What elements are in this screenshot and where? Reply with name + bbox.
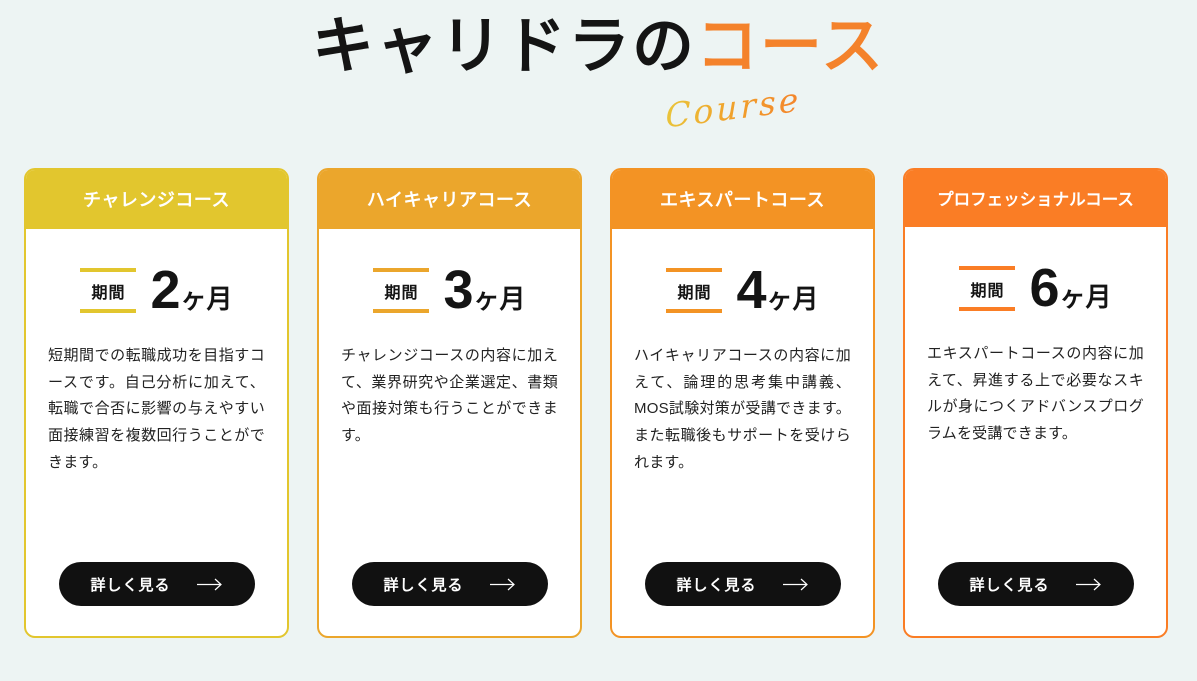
duration-value: 6 ヶ月 [1029, 261, 1111, 315]
course-description: チャレンジコースの内容に加えて、業界研究や企業選定、書類や面接対策も行うことがで… [341, 343, 558, 450]
cta-wrap: 詳しく見る [927, 536, 1144, 636]
period-label: 期間 [80, 272, 136, 309]
details-button[interactable]: 詳しく見る [59, 562, 255, 606]
course-card-body: 期間 2 ヶ月 短期間での転職成功を目指すコースです。自己分析に加えて、転職で合… [26, 229, 287, 636]
duration-number: 6 [1029, 261, 1058, 315]
cta-wrap: 詳しく見る [48, 536, 265, 636]
period-badge: 期間 [80, 268, 136, 313]
arrow-right-icon [783, 578, 809, 591]
arrow-right-icon [197, 578, 223, 591]
course-duration: 期間 3 ヶ月 [341, 263, 558, 317]
course-duration: 期間 4 ヶ月 [634, 263, 851, 317]
period-rule-bottom [666, 309, 722, 313]
course-card-header: エキスパートコース [612, 170, 873, 229]
course-duration: 期間 2 ヶ月 [48, 263, 265, 317]
course-card-list: チャレンジコース 期間 2 ヶ月 短期間での転職成功を目指すコースです。自己分析… [24, 168, 1173, 638]
duration-unit: ヶ月 [474, 286, 526, 312]
details-button[interactable]: 詳しく見る [352, 562, 548, 606]
course-card-header: プロフェッショナルコース [905, 170, 1166, 227]
details-button-label: 詳しく見る [383, 574, 463, 595]
course-card[interactable]: エキスパートコース 期間 4 ヶ月 ハイキャリアコースの内容に加えて、論理的思考… [610, 168, 875, 638]
page-title-main: キャリドラの [312, 12, 696, 81]
details-button[interactable]: 詳しく見る [645, 562, 841, 606]
period-label: 期間 [373, 272, 429, 309]
duration-value: 4 ヶ月 [736, 263, 818, 317]
duration-unit: ヶ月 [767, 286, 819, 312]
period-rule-bottom [959, 307, 1015, 311]
duration-value: 3 ヶ月 [443, 263, 525, 317]
cta-wrap: 詳しく見る [341, 536, 558, 636]
course-card[interactable]: プロフェッショナルコース 期間 6 ヶ月 エキスパートコースの内容に加えて、昇進… [903, 168, 1168, 638]
course-card-header: チャレンジコース [26, 170, 287, 229]
cta-wrap: 詳しく見る [634, 536, 851, 636]
details-button-label: 詳しく見る [90, 574, 170, 595]
duration-number: 2 [150, 263, 179, 317]
course-card[interactable]: チャレンジコース 期間 2 ヶ月 短期間での転職成功を目指すコースです。自己分析… [24, 168, 289, 638]
course-card-body: 期間 4 ヶ月 ハイキャリアコースの内容に加えて、論理的思考集中講義、MOS試験… [612, 229, 873, 636]
period-badge: 期間 [959, 266, 1015, 311]
page-title-accent: コース [696, 12, 885, 81]
details-button-label: 詳しく見る [969, 574, 1049, 595]
period-label: 期間 [666, 272, 722, 309]
period-rule-bottom [373, 309, 429, 313]
course-card-header: ハイキャリアコース [319, 170, 580, 229]
course-card-body: 期間 6 ヶ月 エキスパートコースの内容に加えて、昇進する上で必要なスキルが身に… [905, 227, 1166, 636]
script-subtitle-wrap: Course [0, 88, 1197, 127]
period-badge: 期間 [373, 268, 429, 313]
duration-value: 2 ヶ月 [150, 263, 232, 317]
course-description: 短期間での転職成功を目指すコースです。自己分析に加えて、転職で合否に影響の与えや… [48, 343, 265, 476]
course-description: ハイキャリアコースの内容に加えて、論理的思考集中講義、MOS試験対策が受講できま… [634, 343, 851, 476]
arrow-right-icon [1076, 578, 1102, 591]
duration-number: 4 [736, 263, 765, 317]
details-button-label: 詳しく見る [676, 574, 756, 595]
duration-unit: ヶ月 [1060, 284, 1112, 310]
duration-unit: ヶ月 [181, 286, 233, 312]
course-duration: 期間 6 ヶ月 [927, 261, 1144, 315]
course-card-body: 期間 3 ヶ月 チャレンジコースの内容に加えて、業界研究や企業選定、書類や面接対… [319, 229, 580, 636]
period-label: 期間 [959, 270, 1015, 307]
duration-number: 3 [443, 263, 472, 317]
page-title: キャリドラのコース [0, 8, 1197, 86]
period-rule-bottom [80, 309, 136, 313]
page-header: キャリドラのコース [0, 0, 1197, 86]
course-card[interactable]: ハイキャリアコース 期間 3 ヶ月 チャレンジコースの内容に加えて、業界研究や企… [317, 168, 582, 638]
details-button[interactable]: 詳しく見る [938, 562, 1134, 606]
course-description: エキスパートコースの内容に加えて、昇進する上で必要なスキルが身につくアドバンスプ… [927, 341, 1144, 448]
script-subtitle: Course [665, 80, 801, 136]
arrow-right-icon [490, 578, 516, 591]
period-badge: 期間 [666, 268, 722, 313]
